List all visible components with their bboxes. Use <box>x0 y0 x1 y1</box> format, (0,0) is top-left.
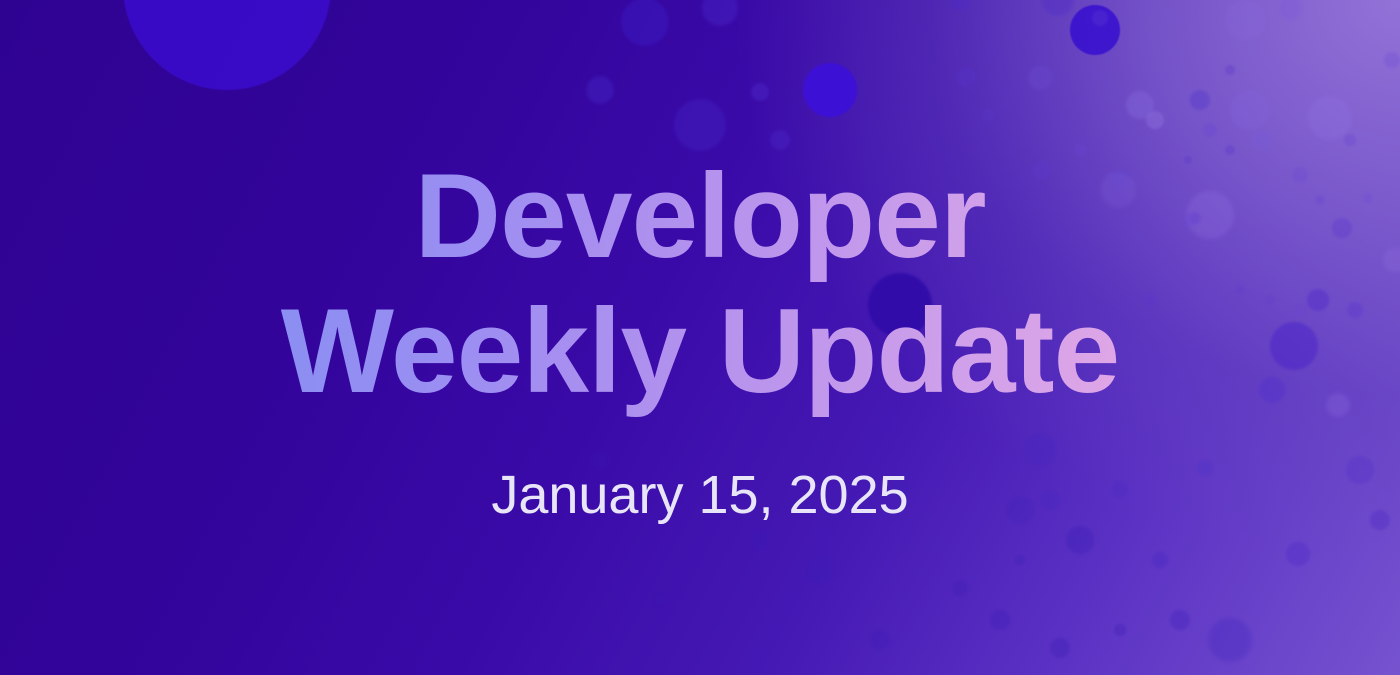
slide-content: Developer Weekly Update January 15, 2025 <box>0 0 1400 675</box>
slide-canvas: Developer Weekly Update January 15, 2025 <box>0 0 1400 675</box>
page-title: Developer Weekly Update <box>281 149 1119 418</box>
page-title-line-2: Weekly Update <box>281 284 1119 418</box>
page-title-line-1: Developer <box>281 149 1119 283</box>
slide-date-subtitle: January 15, 2025 <box>491 464 908 526</box>
